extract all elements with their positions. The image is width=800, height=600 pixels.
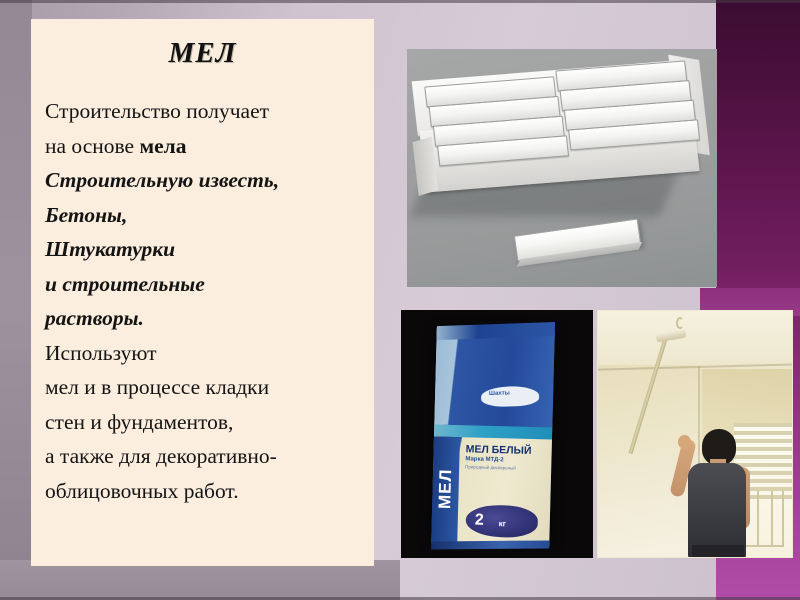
body-line-7: растворы. — [45, 301, 368, 336]
body-line-12: облицовочных работ. — [45, 474, 368, 509]
bag-product-subtitle: Природный дисперсный — [465, 464, 516, 470]
body-text: Строительство получает на основе мела Ст… — [31, 94, 374, 508]
blind-slat — [734, 447, 792, 451]
bag-lower-panel: МЕЛ МЕЛ БЕЛЫЙ Марка МТД-2 Природный дисп… — [431, 436, 552, 546]
body-line-4: Бетоны, — [45, 198, 368, 233]
blind-slat — [734, 439, 792, 443]
bag-bottom-strip — [431, 540, 549, 549]
bag-brand-logo: Шахты — [481, 386, 540, 408]
body-line-5: Штукатурки — [45, 232, 368, 267]
body-line-8: Используют — [45, 336, 368, 371]
worker-pants — [692, 545, 744, 558]
body-line-1: Строительство получает — [45, 94, 368, 129]
chalk-bag: Шахты МЕЛ МЕЛ БЕЛЫЙ Марка МТД-2 Природны… — [431, 328, 555, 546]
body-line-2-bold: мела — [139, 134, 186, 158]
blind-slat — [734, 455, 792, 459]
bag-weight-number: 2 — [475, 512, 484, 530]
photo-painter — [597, 310, 793, 558]
slide-background-left-strip — [0, 0, 32, 600]
worker-torso — [688, 463, 746, 558]
page-title: МЕЛ — [31, 37, 374, 70]
bag-top-panel — [434, 328, 554, 427]
blind-slat — [734, 423, 792, 427]
body-line-3: Строительную известь, — [45, 163, 368, 198]
ceiling-hook-icon — [676, 317, 684, 329]
slide-frame-top — [0, 0, 800, 3]
text-panel: МЕЛ Строительство получает на основе мел… — [31, 19, 374, 566]
bag-product-name: МЕЛ БЕЛЫЙ — [466, 443, 532, 457]
worker-hand — [678, 435, 691, 449]
body-line-9: мел и в процессе кладки — [45, 370, 368, 405]
bag-brand-label: Шахты — [489, 390, 510, 397]
presentation-slide: МЕЛ Строительство получает на основе мел… — [0, 0, 800, 600]
body-line-6: и строительные — [45, 267, 368, 302]
bag-side-label: МЕЛ — [435, 459, 457, 520]
body-line-2: на основе мела — [45, 129, 368, 164]
bag-side-band: МЕЛ — [431, 436, 460, 544]
body-line-10: стен и фундаментов, — [45, 405, 368, 440]
photo-chalk-bag: Шахты МЕЛ МЕЛ БЕЛЫЙ Марка МТД-2 Природны… — [401, 310, 593, 558]
bag-product-mark: Марка МТД-2 — [465, 456, 503, 463]
bag-weight-badge: 2 кг — [465, 504, 538, 538]
blind-slat — [734, 431, 792, 435]
photo-chalk-box — [407, 49, 717, 287]
body-line-2-lead: на основе — [45, 134, 139, 158]
chalk-stick-loose — [514, 218, 641, 261]
bag-weight-unit: кг — [499, 519, 507, 528]
body-line-11: а также для декоративно- — [45, 439, 368, 474]
slide-background-bottom-strip — [0, 560, 400, 600]
